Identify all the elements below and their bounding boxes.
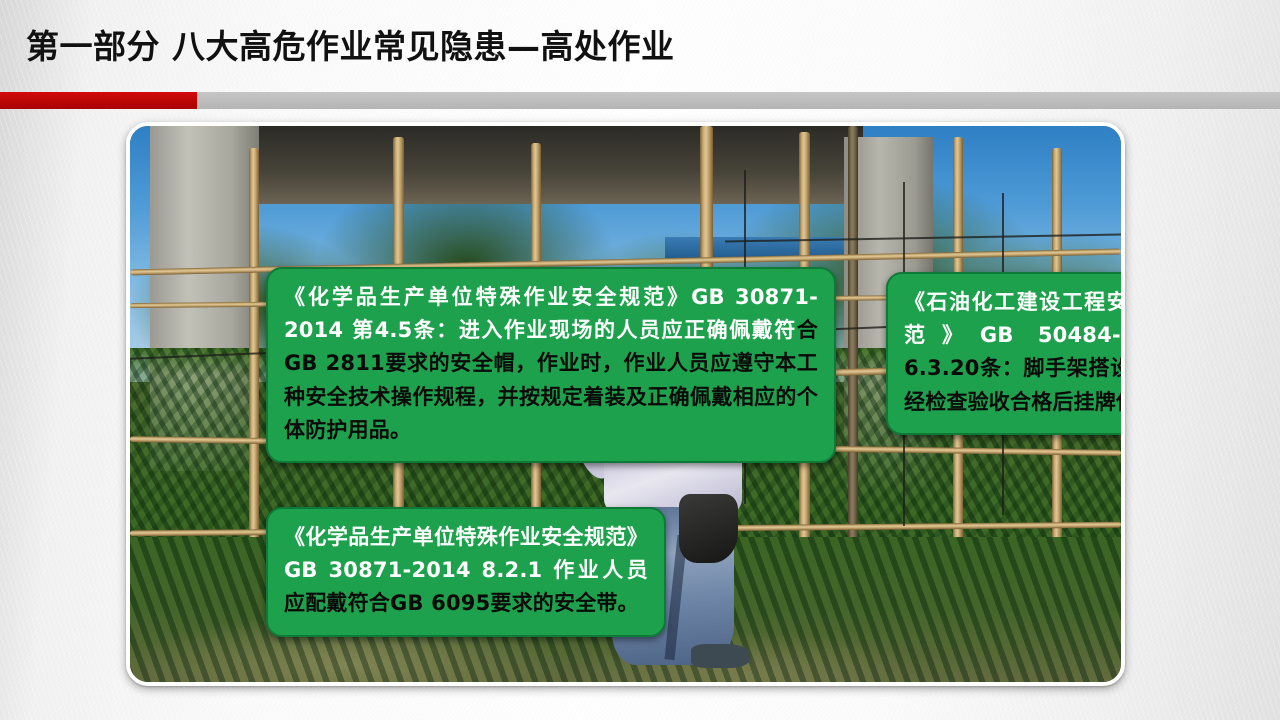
regulation-2-white-text: 《石油化工建设工程安全技术规范》GB 50484-2008第 bbox=[904, 290, 1125, 347]
regulation-callout-2: 《石油化工建设工程安全技术规范》GB 50484-2008第6.3.20条：脚手… bbox=[886, 272, 1125, 435]
regulation-callout-3: 《化学品生产单位特殊作业安全规范》GB 30871-2014 8.2.1 作业人… bbox=[266, 507, 666, 637]
divider-red-bar bbox=[0, 92, 197, 109]
title-divider bbox=[0, 92, 1280, 109]
regulation-callout-1: 《化学品生产单位特殊作业安全规范》GB 30871-2014 第4.5条：进入作… bbox=[266, 267, 836, 463]
regulation-3-white-text: 《化学品生产单位特殊作业安全规范》GB 30871-2014 8.2.1 作业人… bbox=[284, 525, 648, 582]
worker-shoe bbox=[691, 644, 750, 669]
regulation-2-black-text: 6.3.20条：脚手架搭设完毕，应经检查验收合格后挂牌使用。 bbox=[904, 356, 1125, 413]
slide-canvas: 第一部分 八大高危作业常见隐患—高处作业 bbox=[0, 0, 1280, 720]
page-title: 第一部分 八大高危作业常见隐患—高处作业 bbox=[26, 24, 1126, 70]
worker-tool-pouch bbox=[679, 494, 738, 562]
regulation-1-white-text: 《化学品生产单位特殊作业安全规范》GB 30871-2014 第4.5条：进入作… bbox=[284, 285, 818, 342]
photo-frame: 《化学品生产单位特殊作业安全规范》GB 30871-2014 第4.5条：进入作… bbox=[126, 122, 1125, 686]
regulation-3-black-text: 应配戴符合GB 6095要求的安全带。 bbox=[284, 591, 639, 615]
